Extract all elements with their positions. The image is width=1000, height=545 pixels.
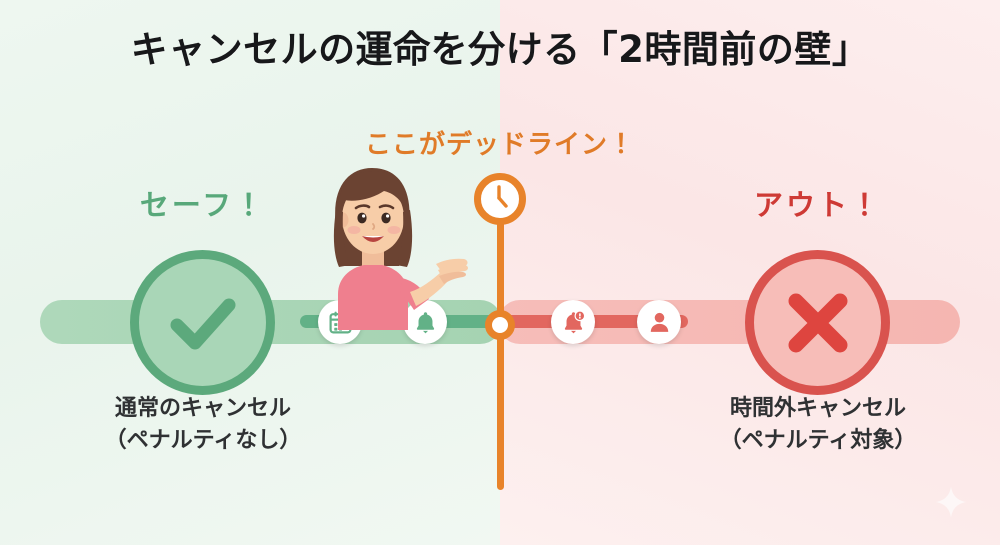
out-caption-line-1: 時間外キャンセル	[648, 393, 988, 425]
safe-status-label: セーフ！	[73, 182, 333, 224]
deadline-axis-line	[497, 205, 504, 490]
infographic-canvas: キャンセルの運命を分ける「2時間前の壁」 セーフ！ 通常のキャンセル （ペナルテ…	[0, 0, 1000, 545]
timeline-node-icon	[485, 310, 515, 340]
woman-illustration	[298, 160, 473, 330]
safe-caption: 通常のキャンセル （ペナルティなし）	[33, 393, 373, 457]
clock-hands-icon	[480, 179, 518, 217]
bell-alert-icon	[551, 300, 595, 344]
sparkle-icon	[934, 485, 968, 519]
person-glyph-icon	[647, 310, 672, 335]
person-icon	[637, 300, 681, 344]
check-circle-icon	[130, 250, 275, 395]
clock-icon	[474, 173, 526, 225]
safe-caption-line-1: 通常のキャンセル	[33, 393, 373, 425]
out-caption: 時間外キャンセル （ペナルティ対象）	[648, 393, 988, 457]
cross-mark-icon	[772, 277, 864, 369]
out-status-label: アウト！	[688, 182, 948, 224]
page-title: キャンセルの運命を分ける「2時間前の壁」	[0, 28, 1000, 72]
cross-circle-icon	[745, 250, 890, 395]
out-caption-line-2: （ペナルティ対象）	[648, 425, 988, 457]
right-background-panel	[500, 0, 1000, 545]
bell-alert-glyph-icon	[561, 310, 586, 335]
safe-caption-line-2: （ペナルティなし）	[33, 425, 373, 457]
deadline-label: ここがデッドライン！	[350, 124, 650, 161]
check-mark-icon	[157, 277, 249, 369]
